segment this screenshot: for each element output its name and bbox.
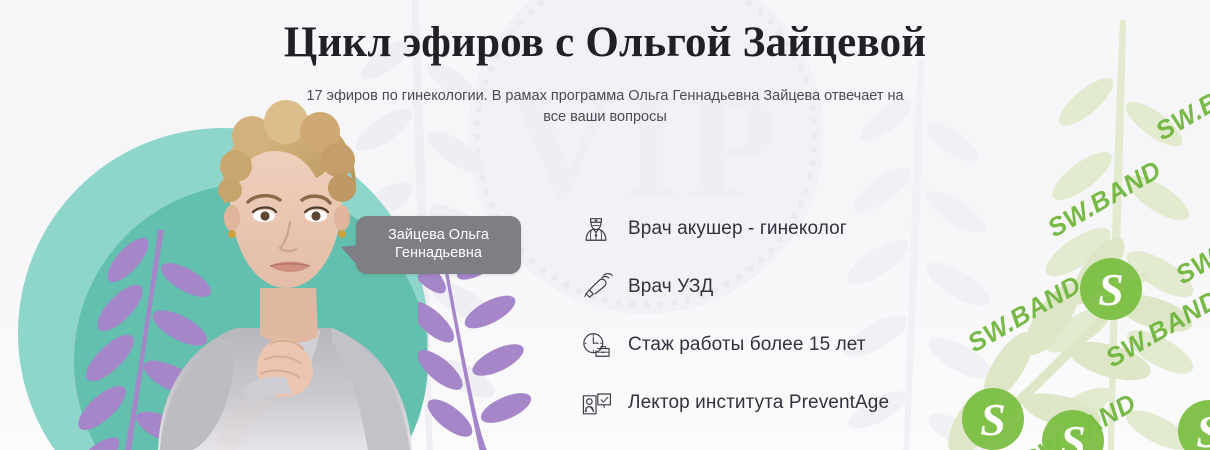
page-title: Цикл эфиров с Ольгой Зайцевой bbox=[0, 18, 1210, 67]
doctor-icon bbox=[578, 211, 614, 247]
page-subtitle: 17 эфиров по гинекологии. В рамах програ… bbox=[305, 86, 905, 128]
credentials-list: Врач акушер - гинеколог Врач УЗД bbox=[578, 210, 889, 422]
credential-label: Врач УЗД bbox=[628, 276, 713, 298]
watermark-text: SW.BAND bbox=[1042, 154, 1166, 244]
credential-item-experience: Стаж работы более 15 лет bbox=[578, 326, 889, 364]
watermark-text: SW.BAND bbox=[1017, 387, 1141, 450]
credential-item-doctor: Врач акушер - гинеколог bbox=[578, 210, 889, 248]
clock-briefcase-icon bbox=[578, 327, 614, 363]
promo-banner: VIP bbox=[0, 0, 1210, 450]
watermark-text: SW.BAND bbox=[1150, 57, 1210, 147]
watermark-logo: S bbox=[1042, 410, 1104, 450]
credential-label: Стаж работы более 15 лет bbox=[628, 334, 866, 356]
sw-band-watermark-layer: SW.BAND SW.BAND SW.BAND SW.BAND SW.BAND … bbox=[930, 0, 1210, 450]
presenter-name-badge: Зайцева Ольга Геннадьевна bbox=[356, 216, 521, 274]
watermark-text: SW.BAND bbox=[1170, 201, 1210, 291]
watermark-logo: S bbox=[1178, 400, 1210, 450]
green-leaf-sprig-right-lower bbox=[930, 215, 1200, 450]
lecturer-board-icon bbox=[578, 385, 614, 421]
credential-item-lecturer: Лектор института PreventAge bbox=[578, 384, 889, 422]
watermark-text: SW.BAND bbox=[1100, 284, 1210, 374]
badge-tail bbox=[341, 245, 359, 269]
watermark-text: SW.BAND bbox=[962, 269, 1086, 359]
credential-label: Врач акушер - гинеколог bbox=[628, 218, 847, 240]
ultrasound-probe-icon bbox=[578, 269, 614, 305]
credential-item-ultrasound: Врач УЗД bbox=[578, 268, 889, 306]
credential-label: Лектор института PreventAge bbox=[628, 392, 889, 414]
green-leaf-sprig-right-upper bbox=[1020, 20, 1210, 450]
watermark-logo: S bbox=[962, 388, 1024, 450]
presenter-name-label: Зайцева Ольга Геннадьевна bbox=[388, 227, 489, 262]
watermark-logo: S bbox=[1080, 258, 1142, 320]
